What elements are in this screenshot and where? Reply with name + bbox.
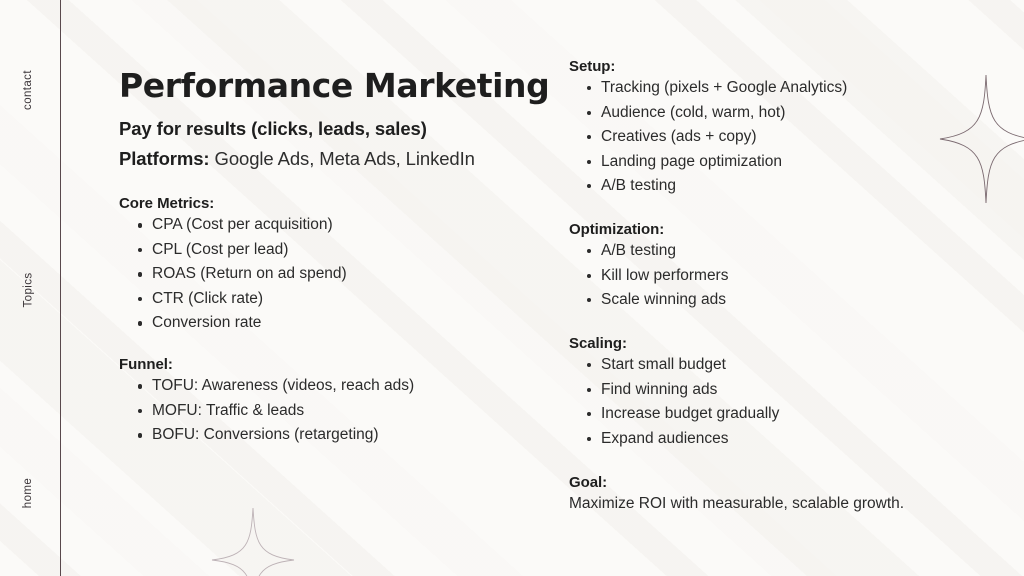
section-heading: Scaling: (569, 335, 989, 352)
list-item: Start small budget (601, 354, 989, 376)
scaling-list: Start small budget Find winning ads Incr… (569, 354, 989, 450)
list-item: CPA (Cost per acquisition) (152, 214, 551, 236)
sidebar-rail: contact Topics home (0, 0, 61, 576)
sidebar-item-contact[interactable]: contact (0, 84, 56, 96)
sidebar-item-topics[interactable]: Topics (0, 284, 56, 296)
core-metrics-list: CPA (Cost per acquisition) CPL (Cost per… (119, 214, 551, 334)
sidebar-item-contact-label: contact (22, 70, 34, 110)
section-heading: Funnel: (119, 356, 551, 373)
list-item: BOFU: Conversions (retargeting) (152, 424, 551, 446)
list-item: Tracking (pixels + Google Analytics) (601, 77, 989, 99)
list-item: Creatives (ads + copy) (601, 126, 989, 148)
setup-list: Tracking (pixels + Google Analytics) Aud… (569, 77, 989, 197)
platforms-value: Google Ads, Meta Ads, LinkedIn (210, 148, 475, 169)
sidebar-item-home[interactable]: home (0, 487, 56, 499)
list-item: Scale winning ads (601, 289, 989, 311)
goal-heading: Goal: (569, 474, 989, 491)
section-heading: Setup: (569, 58, 989, 75)
goal-text: Maximize ROI with measurable, scalable g… (569, 493, 989, 515)
slide-canvas: contact Topics home Performance Marketin… (0, 0, 1024, 576)
section-core-metrics: Core Metrics: CPA (Cost per acquisition)… (119, 195, 551, 334)
platforms-label: Platforms: (119, 148, 210, 169)
section-goal: Goal: Maximize ROI with measurable, scal… (569, 474, 989, 515)
section-optimization: Optimization: A/B testing Kill low perfo… (569, 221, 989, 311)
section-scaling: Scaling: Start small budget Find winning… (569, 335, 989, 450)
rail-divider-line (60, 0, 61, 576)
sidebar-item-topics-label: Topics (22, 273, 34, 308)
subtitle-value-prop: Pay for results (clicks, leads, sales) (119, 114, 551, 144)
list-item: ROAS (Return on ad spend) (152, 263, 551, 285)
list-item: Kill low performers (601, 265, 989, 287)
left-content-column: Performance Marketing Pay for results (c… (119, 64, 551, 449)
four-point-sparkle-icon-secondary (210, 506, 296, 576)
list-item: Audience (cold, warm, hot) (601, 102, 989, 124)
list-item: A/B testing (601, 175, 989, 197)
right-content-column: Setup: Tracking (pixels + Google Analyti… (569, 58, 989, 515)
list-item: MOFU: Traffic & leads (152, 400, 551, 422)
section-setup: Setup: Tracking (pixels + Google Analyti… (569, 58, 989, 197)
optimization-list: A/B testing Kill low performers Scale wi… (569, 240, 989, 311)
section-funnel: Funnel: TOFU: Awareness (videos, reach a… (119, 356, 551, 446)
sidebar-item-home-label: home (22, 478, 34, 508)
list-item: Expand audiences (601, 428, 989, 450)
list-item: A/B testing (601, 240, 989, 262)
list-item: Landing page optimization (601, 151, 989, 173)
list-item: Conversion rate (152, 312, 551, 334)
page-title: Performance Marketing (119, 64, 551, 108)
funnel-list: TOFU: Awareness (videos, reach ads) MOFU… (119, 375, 551, 446)
list-item: TOFU: Awareness (videos, reach ads) (152, 375, 551, 397)
platforms-line: Platforms: Google Ads, Meta Ads, LinkedI… (119, 144, 551, 174)
list-item: CPL (Cost per lead) (152, 239, 551, 261)
list-item: Increase budget gradually (601, 403, 989, 425)
section-heading: Core Metrics: (119, 195, 551, 212)
list-item: Find winning ads (601, 379, 989, 401)
section-heading: Optimization: (569, 221, 989, 238)
list-item: CTR (Click rate) (152, 288, 551, 310)
